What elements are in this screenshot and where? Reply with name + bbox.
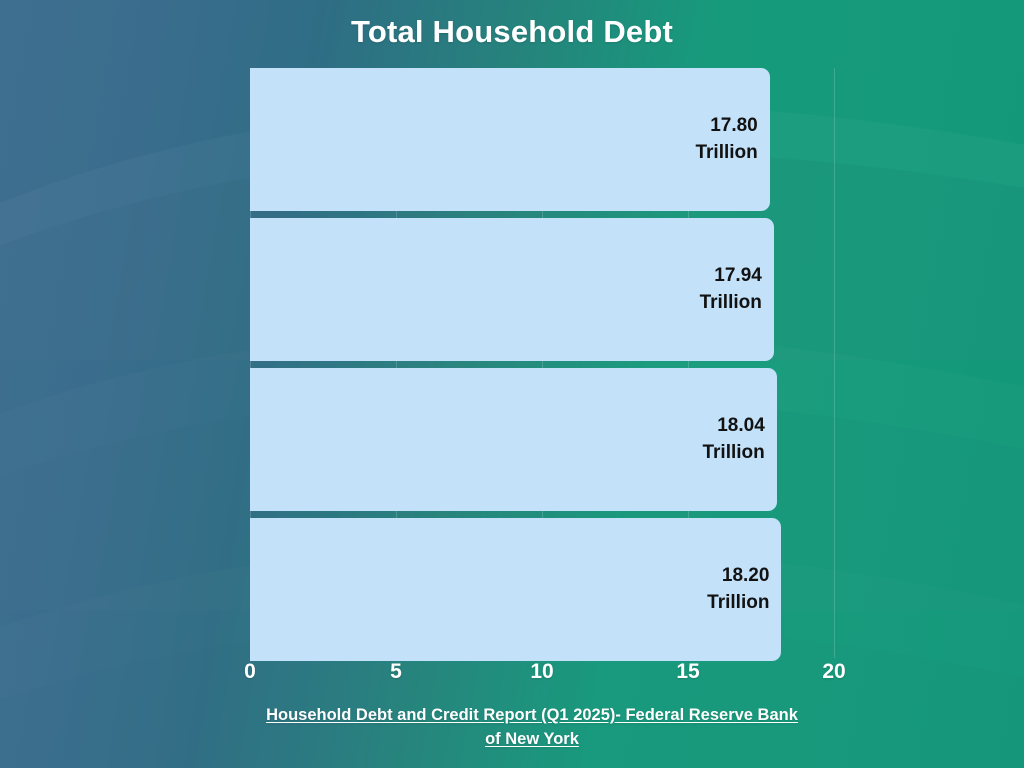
bar-row: 2024 Q418.04 Trillion [250,368,834,511]
bar-value-label: 17.94 Trillion [700,263,774,317]
bar[interactable]: 18.20 Trillion [250,518,781,661]
source-link[interactable]: Household Debt and Credit Report (Q1 202… [262,704,802,752]
x-axis: 05101520 [250,660,834,690]
bar-value-label: 18.04 Trillion [702,413,776,467]
bar-value-label: 17.80 Trillion [695,113,769,167]
bar-row: 2025 Q118.20 Trillion [250,518,834,661]
x-axis-tick-label: 20 [822,660,845,684]
bar[interactable]: 18.04 Trillion [250,368,777,511]
gridline [834,68,835,658]
bar[interactable]: 17.94 Trillion [250,218,774,361]
chart-plot-area: 2024 Q217.80 Trillion2024 Q317.94 Trilli… [250,68,834,658]
x-axis-tick-label: 0 [244,660,256,684]
x-axis-tick-label: 15 [676,660,699,684]
bar-value-label: 18.20 Trillion [707,563,781,617]
bar[interactable]: 17.80 Trillion [250,68,770,211]
chart-title: Total Household Debt [0,14,1024,50]
bar-row: 2024 Q217.80 Trillion [250,68,834,211]
x-axis-tick-label: 10 [530,660,553,684]
x-axis-tick-label: 5 [390,660,402,684]
bar-row: 2024 Q317.94 Trillion [250,218,834,361]
slide-canvas: Total Household Debt 2024 Q217.80 Trilli… [0,0,1024,768]
